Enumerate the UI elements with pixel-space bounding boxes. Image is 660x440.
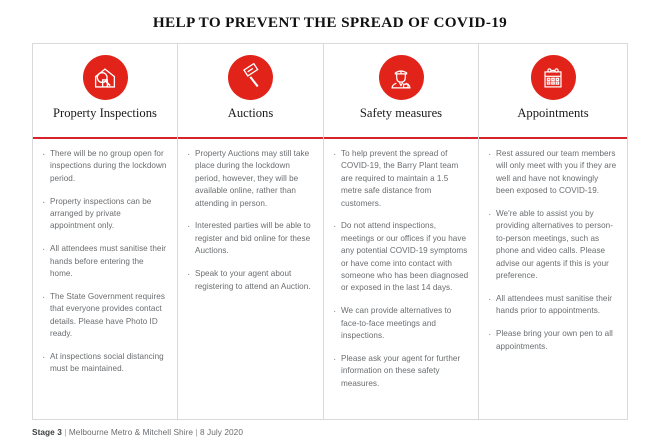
column-appointments: Appointments Rest assured our team membe… xyxy=(479,44,627,419)
header-rule xyxy=(479,137,627,139)
page-title: HELP TO PREVENT THE SPREAD OF COVID-19 xyxy=(0,14,660,32)
column-header: Safety measures xyxy=(324,44,478,137)
infographic-page: HELP TO PREVENT THE SPREAD OF COVID-19 P… xyxy=(0,0,660,440)
list-item: Interested parties will be able to regis… xyxy=(187,220,314,257)
house-magnifier-icon xyxy=(83,55,128,100)
bullet-list: Rest assured our team members will only … xyxy=(488,148,618,353)
bullet-list: There will be no group open for inspecti… xyxy=(42,148,168,376)
list-item: Please ask your agent for further inform… xyxy=(333,353,469,390)
footer-region: Melbourne Metro & Mitchell Shire xyxy=(69,427,193,437)
medical-person-icon xyxy=(379,55,424,100)
column-body: Property Auctions may still take place d… xyxy=(178,137,323,419)
footer-caption: Stage 3 | Melbourne Metro & Mitchell Shi… xyxy=(32,427,243,437)
list-item: Speak to your agent about registering to… xyxy=(187,268,314,293)
list-item: Please bring your own pen to all appoint… xyxy=(488,328,618,353)
list-item: Rest assured our team members will only … xyxy=(488,148,618,198)
column-title: Safety measures xyxy=(356,107,446,121)
column-auctions: Auctions Property Auctions may still tak… xyxy=(178,44,324,419)
gavel-icon xyxy=(228,55,273,100)
footer-stage: Stage 3 xyxy=(32,427,62,437)
list-item: All attendees must sanitise their hands … xyxy=(488,293,618,318)
column-body: To help prevent the spread of COVID-19, … xyxy=(324,137,478,419)
column-property-inspections: Property Inspections There will be no gr… xyxy=(33,44,178,419)
list-item: The State Government requires that every… xyxy=(42,291,168,341)
column-body: There will be no group open for inspecti… xyxy=(33,137,177,419)
column-title: Auctions xyxy=(224,107,277,121)
column-header: Auctions xyxy=(178,44,323,137)
list-item: We can provide alternatives to face-to-f… xyxy=(333,305,469,342)
bullet-list: Property Auctions may still take place d… xyxy=(187,148,314,293)
footer-separator: | xyxy=(64,427,66,437)
list-item: Property inspections can be arranged by … xyxy=(42,196,168,233)
column-title: Appointments xyxy=(513,107,592,121)
list-item: Property Auctions may still take place d… xyxy=(187,148,314,210)
column-header: Appointments xyxy=(479,44,627,137)
column-header: Property Inspections xyxy=(33,44,177,137)
footer-separator: | xyxy=(195,427,197,437)
bullet-list: To help prevent the spread of COVID-19, … xyxy=(333,148,469,390)
list-item: At inspections social distancing must be… xyxy=(42,351,168,376)
list-item: We're able to assist you by providing al… xyxy=(488,208,618,282)
list-item: All attendees must sanitise their hands … xyxy=(42,243,168,280)
column-title: Property Inspections xyxy=(49,107,161,121)
column-safety-measures: Safety measures To help prevent the spre… xyxy=(324,44,479,419)
footer-date: 8 July 2020 xyxy=(200,427,243,437)
list-item: There will be no group open for inspecti… xyxy=(42,148,168,185)
list-item: To help prevent the spread of COVID-19, … xyxy=(333,148,469,210)
guidelines-table: Property Inspections There will be no gr… xyxy=(32,43,628,420)
column-body: Rest assured our team members will only … xyxy=(479,137,627,419)
header-rule xyxy=(33,137,177,139)
list-item: Do not attend inspections, meetings or o… xyxy=(333,220,469,294)
header-rule xyxy=(324,137,478,139)
calendar-icon xyxy=(531,55,576,100)
header-rule xyxy=(178,137,323,139)
